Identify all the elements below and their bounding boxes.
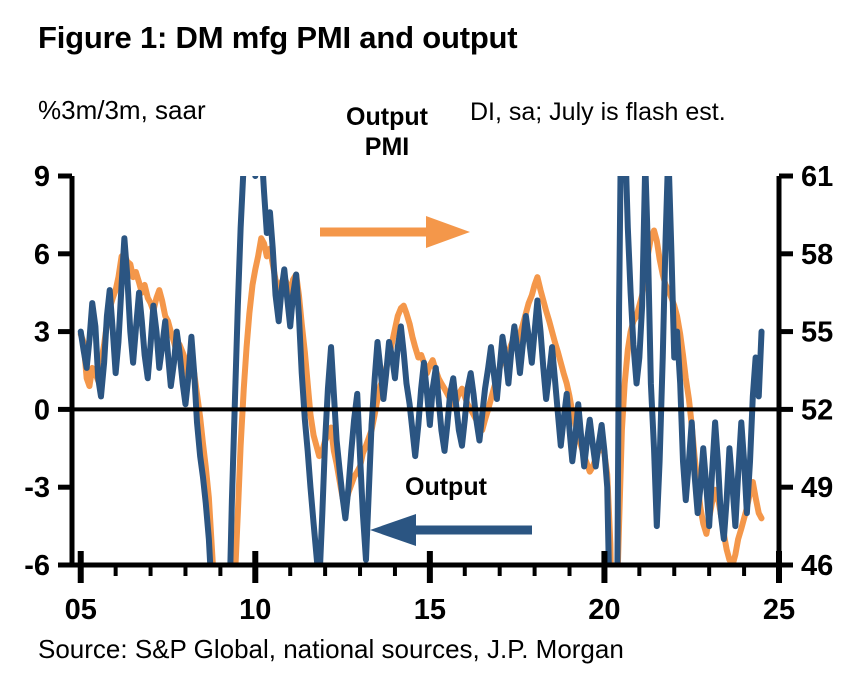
x-tick-label: 25 [763, 594, 795, 626]
x-tick-label: 05 [65, 594, 97, 626]
y-tick-label-left: 9 [34, 161, 50, 193]
y-tick-label-left: 6 [34, 239, 50, 271]
y-tick-label-right: 52 [801, 394, 833, 426]
y-tick-label-right: 49 [801, 472, 833, 504]
chart-plot: -6-303694649525558610510152025 [0, 0, 852, 689]
y-tick-label-right: 58 [801, 239, 833, 271]
y-tick-label-left: 0 [34, 394, 50, 426]
y-tick-label-left: -3 [24, 472, 50, 504]
y-tick-label-left: 3 [34, 317, 50, 349]
y-tick-label-right: 55 [801, 317, 833, 349]
source-note: Source: S&P Global, national sources, J.… [38, 634, 624, 665]
output-arrow-head [370, 514, 416, 546]
x-tick-label: 10 [239, 594, 271, 626]
output-pmi-arrow-head [426, 216, 470, 248]
figure-container: Figure 1: DM mfg PMI and output %3m/3m, … [0, 0, 852, 689]
y-tick-label-right: 46 [801, 550, 833, 582]
x-tick-label: 20 [588, 594, 620, 626]
series-layer [81, 46, 762, 689]
y-tick-label-left: -6 [24, 550, 50, 582]
y-tick-label-right: 61 [801, 161, 833, 193]
x-tick-label: 15 [414, 594, 446, 626]
